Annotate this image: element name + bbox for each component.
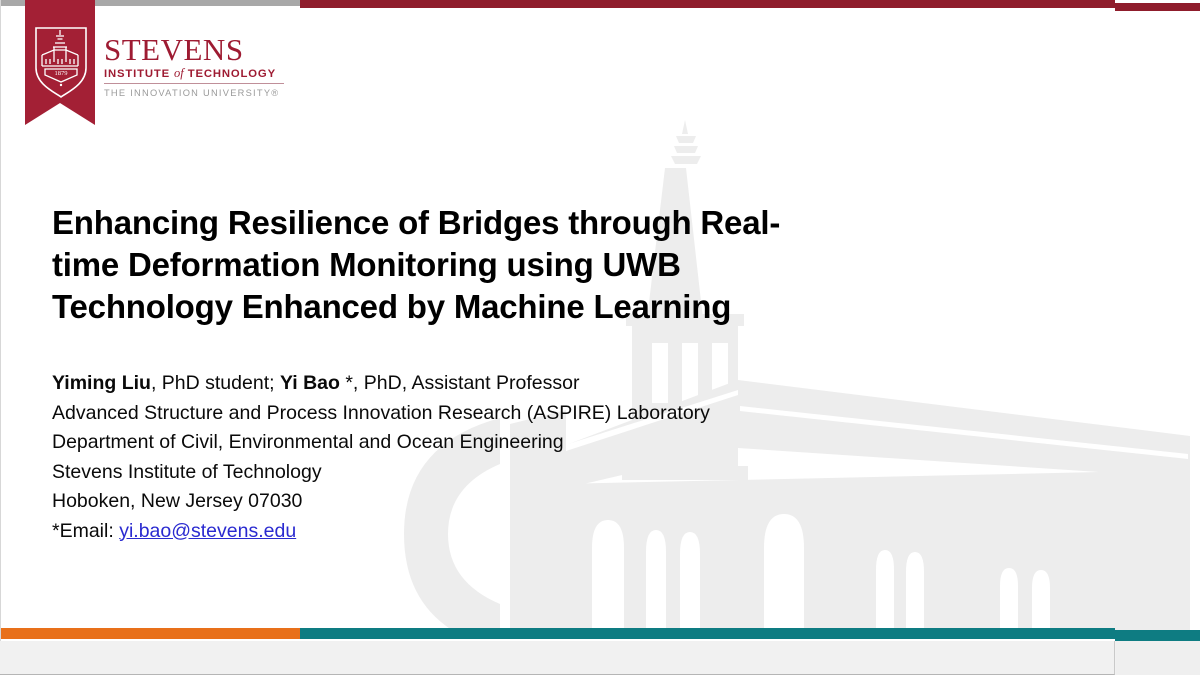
slide-title-line-3: Technology Enhanced by Machine Learning bbox=[52, 286, 852, 328]
stevens-shield-icon: 1879 bbox=[32, 22, 90, 100]
author-secondary-name: Yi Bao bbox=[280, 372, 340, 394]
slide-title-line-1: Enhancing Resilience of Bridges through … bbox=[52, 202, 852, 244]
footer-accent-bar-orange bbox=[0, 628, 300, 639]
top-rule-crimson bbox=[300, 0, 1115, 8]
stevens-wordmark: STEVENS INSTITUTE of TECHNOLOGY THE INNO… bbox=[104, 34, 284, 98]
author-secondary-role: *, PhD, Assistant Professor bbox=[340, 372, 580, 394]
slide-title: Enhancing Resilience of Bridges through … bbox=[52, 202, 852, 328]
top-rule-crimson-right bbox=[1115, 3, 1200, 11]
author-primary-name: Yiming Liu bbox=[52, 372, 151, 394]
slide-canvas[interactable]: 1879 STEVENS INSTITUTE of TECHNOLOGY THE… bbox=[0, 0, 1200, 641]
shield-year-text: 1879 bbox=[55, 70, 68, 77]
presentation-viewer: 1879 STEVENS INSTITUTE of TECHNOLOGY THE… bbox=[0, 0, 1200, 675]
email-label: *Email: bbox=[52, 520, 119, 542]
author-line: Yiming Liu, PhD student; Yi Bao *, PhD, … bbox=[52, 369, 872, 399]
footer-accent-bar-teal-right bbox=[1115, 630, 1200, 641]
contact-email-line: *Email: yi.bao@stevens.edu bbox=[52, 517, 872, 547]
wordmark-technology: TECHNOLOGY bbox=[188, 68, 276, 80]
wordmark-primary: STEVENS bbox=[104, 34, 284, 66]
affiliation-location: Hoboken, New Jersey 07030 bbox=[52, 487, 872, 517]
viewer-chrome-side bbox=[1116, 641, 1200, 675]
slide-left-edge bbox=[0, 0, 1, 641]
wordmark-of: of bbox=[174, 66, 184, 80]
wordmark-secondary: INSTITUTE of TECHNOLOGY bbox=[104, 66, 284, 84]
email-link[interactable]: yi.bao@stevens.edu bbox=[119, 520, 296, 542]
wordmark-tagline: THE INNOVATION UNIVERSITY® bbox=[104, 88, 284, 98]
wordmark-institute: INSTITUTE bbox=[104, 68, 170, 80]
affiliation-department: Department of Civil, Environmental and O… bbox=[52, 428, 872, 458]
affiliation-lab: Advanced Structure and Process Innovatio… bbox=[52, 399, 872, 429]
author-affiliation-block: Yiming Liu, PhD student; Yi Bao *, PhD, … bbox=[52, 369, 872, 546]
affiliation-institution: Stevens Institute of Technology bbox=[52, 458, 872, 488]
viewer-bottom-chrome bbox=[0, 641, 1200, 675]
viewer-chrome-main bbox=[0, 641, 1115, 675]
footer-accent-bar-teal bbox=[300, 628, 1115, 639]
slide-title-line-2: time Deformation Monitoring using UWB bbox=[52, 244, 852, 286]
author-primary-role: , PhD student; bbox=[151, 372, 280, 394]
